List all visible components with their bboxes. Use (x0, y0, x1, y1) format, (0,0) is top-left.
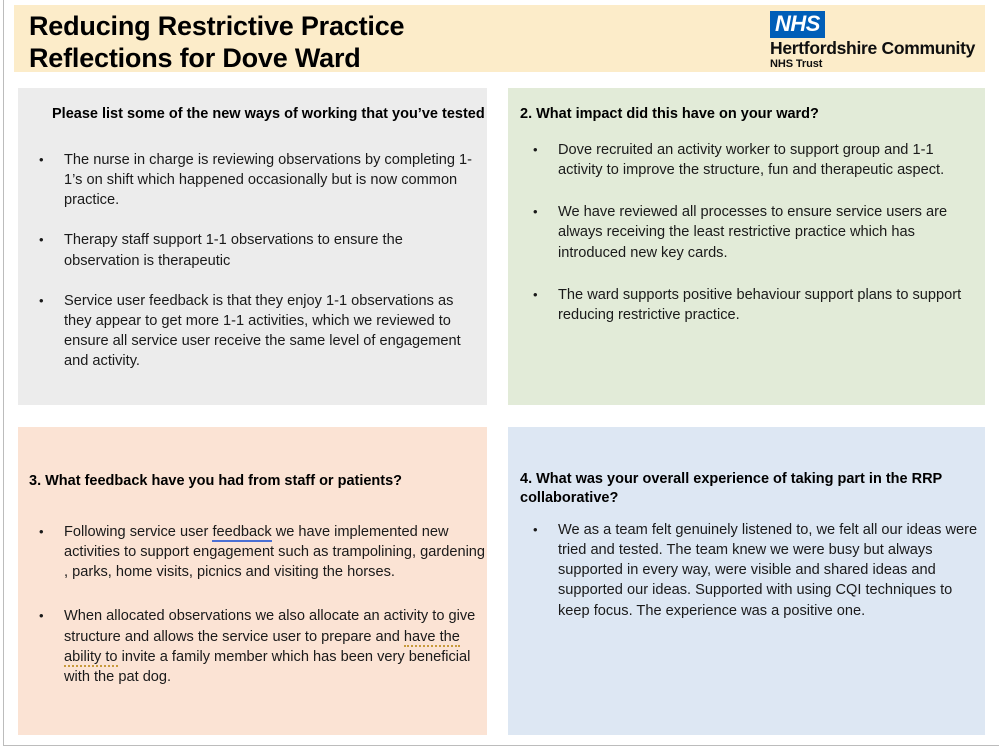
question-1-answers: •The nurse in charge is reviewing observ… (26, 150, 481, 391)
bullet-point-icon: • (533, 140, 538, 160)
bullet-point-icon: • (533, 285, 538, 305)
list-item: •We have reviewed all processes to ensur… (520, 202, 978, 262)
question-panel-4: 4. What was your overall experience of t… (508, 427, 985, 735)
text-run: Following service user (64, 524, 212, 540)
list-item-text: The nurse in charge is reviewing observa… (64, 152, 472, 208)
nhs-organisation-name: Hertfordshire Community (770, 39, 1002, 58)
page-title: Reducing Restrictive Practice Reflection… (29, 11, 769, 75)
bullet-point-icon: • (39, 230, 44, 250)
list-item: •Service user feedback is that they enjo… (26, 291, 481, 372)
list-item-text: Service user feedback is that they enjoy… (64, 293, 461, 369)
list-item: •Therapy staff support 1-1 observations … (26, 230, 481, 270)
list-item: •We as a team felt genuinely listened to… (520, 520, 978, 621)
list-item: •The ward supports positive behaviour su… (520, 285, 978, 325)
question-1-text: Please list some of the new ways of work… (52, 106, 485, 122)
slide-header: Reducing Restrictive Practice Reflection… (14, 5, 985, 72)
slide-canvas: Reducing Restrictive Practice Reflection… (0, 0, 1002, 751)
list-item-text: Following service user feedback we have … (64, 524, 485, 580)
list-item: •Following service user feedback we have… (26, 522, 486, 582)
bullet-point-icon: • (533, 202, 538, 222)
list-item: •When allocated observations we also all… (26, 606, 486, 687)
question-1-number: 1. (26, 105, 52, 124)
nhs-logo: NHS Hertfordshire Community NHS Trust (770, 11, 1002, 71)
list-item-text: Therapy staff support 1-1 observations t… (64, 232, 403, 268)
bullet-point-icon: • (39, 522, 44, 542)
bullet-point-icon: • (533, 520, 538, 540)
question-1-heading: 1.Please list some of the new ways of wo… (26, 105, 487, 124)
nhs-trust-label: NHS Trust (770, 58, 1002, 71)
text-run: invite a family member which has been ve… (64, 649, 470, 685)
list-item: •The nurse in charge is reviewing observ… (26, 150, 481, 210)
page-border-bottom (3, 745, 999, 746)
question-3-answers: •Following service user feedback we have… (26, 522, 486, 711)
question-panel-1: 1.Please list some of the new ways of wo… (18, 88, 487, 405)
page-border-left (3, 0, 4, 746)
grammar-suggestion-text: feedback (212, 524, 271, 542)
list-item-text: When allocated observations we also allo… (64, 608, 475, 684)
nhs-wordmark-icon: NHS (770, 11, 825, 38)
list-item: •Dove recruited an activity worker to su… (520, 140, 978, 180)
list-item-text: We as a team felt genuinely listened to,… (558, 522, 977, 619)
question-2-answers: •Dove recruited an activity worker to su… (520, 140, 978, 347)
list-item-text: We have reviewed all processes to ensure… (558, 204, 947, 260)
question-panel-3: 3. What feedback have you had from staff… (18, 427, 487, 735)
question-3-heading: 3. What feedback have you had from staff… (29, 472, 479, 491)
bullet-point-icon: • (39, 150, 44, 170)
question-4-answers: •We as a team felt genuinely listened to… (520, 520, 978, 639)
question-2-heading: 2. What impact did this have on your war… (520, 105, 970, 124)
list-item-text: The ward supports positive behaviour sup… (558, 287, 961, 323)
question-4-heading: 4. What was your overall experience of t… (520, 470, 972, 507)
bullet-point-icon: • (39, 606, 44, 626)
bullet-point-icon: • (39, 291, 44, 311)
list-item-text: Dove recruited an activity worker to sup… (558, 142, 944, 178)
question-panel-2: 2. What impact did this have on your war… (508, 88, 985, 405)
